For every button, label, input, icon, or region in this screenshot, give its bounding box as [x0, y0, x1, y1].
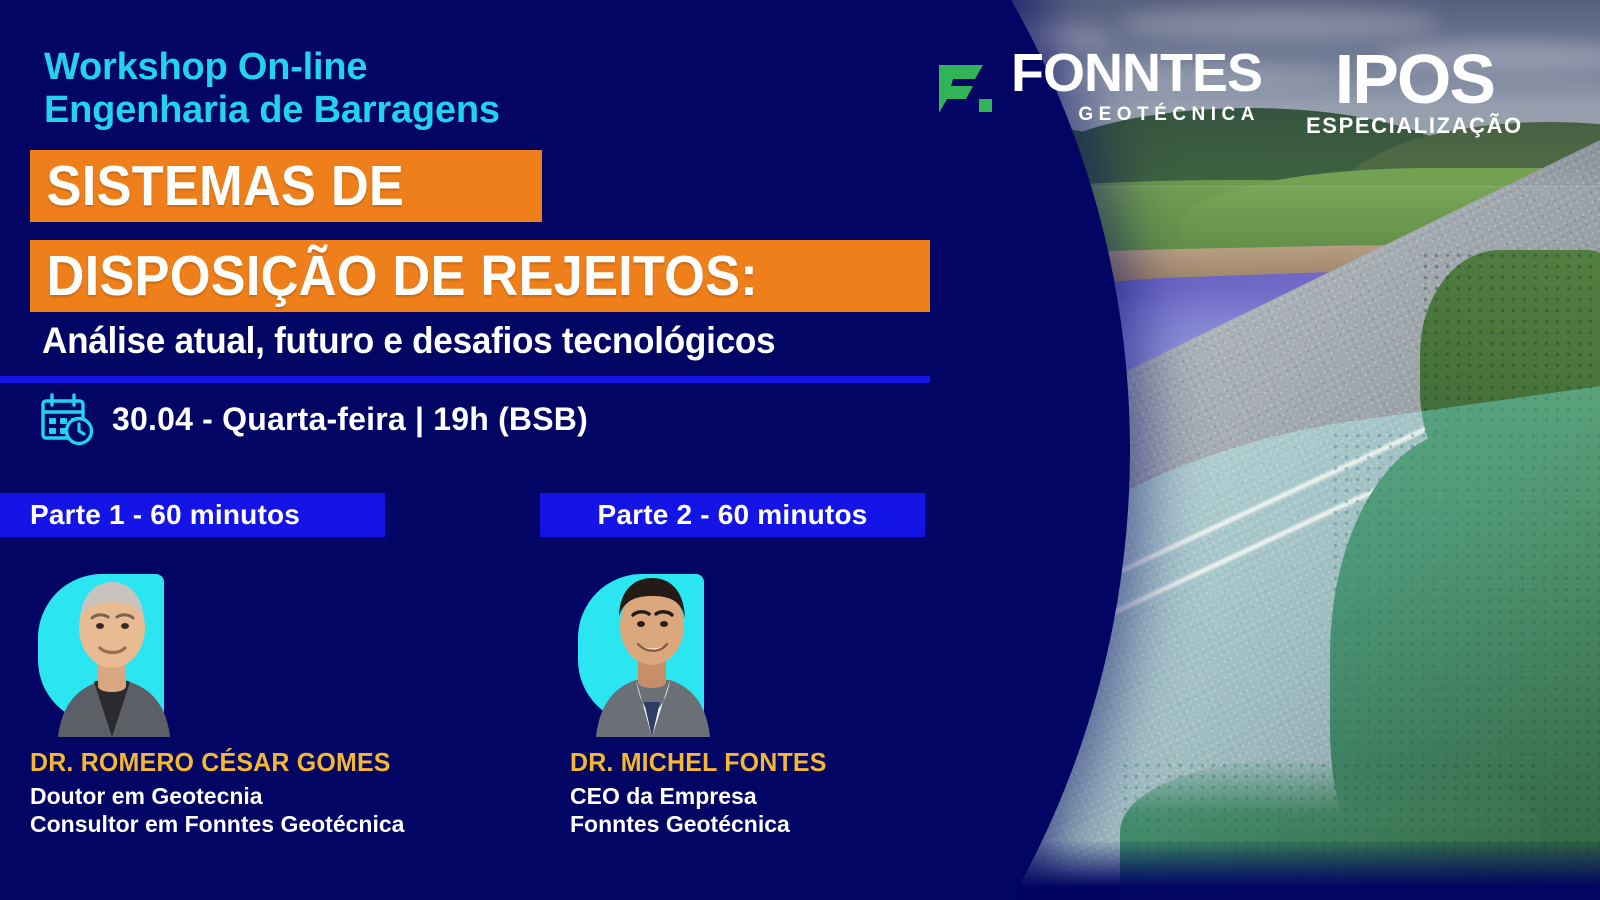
date-row: 30.04 - Quarta-feira | 19h (BSB)	[40, 392, 588, 446]
part-badge-1: Parte 1 - 60 minutos	[0, 493, 385, 537]
speaker-1-role-line-1: Doutor em Geotecnia	[30, 782, 490, 810]
logo-group: FONNTES GEOTÉCNICA IPOS ESPECIALIZAÇÃO	[935, 48, 1523, 139]
fonntes-wordmark: FONNTES GEOTÉCNICA	[1011, 48, 1262, 126]
kicker-line-1: Workshop On-line	[44, 46, 744, 89]
speaker-portrait-2	[570, 552, 720, 737]
ipos-subtitle: ESPECIALIZAÇÃO	[1306, 113, 1523, 139]
portrait-image	[46, 552, 178, 737]
ipos-name: IPOS	[1335, 48, 1494, 111]
part-badge-2: Parte 2 - 60 minutos	[540, 493, 925, 537]
divider-rule	[0, 376, 930, 383]
speaker-2-role-line-2: Fonntes Geotécnica	[570, 810, 1030, 838]
speaker-card-1: DR. ROMERO CÉSAR GOMES Doutor em Geotecn…	[30, 552, 490, 838]
speaker-1-role: Doutor em Geotecnia Consultor em Fonntes…	[30, 782, 490, 838]
part-badge-1-label: Parte 1 - 60 minutos	[30, 499, 300, 531]
speaker-1-name: DR. ROMERO CÉSAR GOMES	[30, 747, 472, 778]
speaker-2-role: CEO da Empresa Fonntes Geotécnica	[570, 782, 1030, 838]
event-datetime: 30.04 - Quarta-feira | 19h (BSB)	[112, 401, 588, 438]
calendar-clock-icon	[40, 392, 96, 446]
speaker-2-name: DR. MICHEL FONTES	[570, 747, 1012, 778]
title-band-1: SISTEMAS DE	[30, 150, 542, 222]
title-line-2: DISPOSIÇÃO DE REJEITOS:	[30, 248, 758, 305]
fonntes-logo: FONNTES GEOTÉCNICA	[935, 48, 1262, 126]
title-line-1: SISTEMAS DE	[30, 158, 404, 215]
speaker-2-role-line-1: CEO da Empresa	[570, 782, 1030, 810]
title-band-2: DISPOSIÇÃO DE REJEITOS:	[30, 240, 930, 312]
fonntes-name: FONNTES	[1011, 48, 1262, 100]
speaker-portrait-1	[30, 552, 180, 737]
kicker-line-2: Engenharia de Barragens	[44, 89, 744, 132]
ipos-logo: IPOS ESPECIALIZAÇÃO	[1306, 48, 1523, 139]
promo-banner: FONNTES GEOTÉCNICA IPOS ESPECIALIZAÇÃO W…	[0, 0, 1600, 900]
speaker-card-2: DR. MICHEL FONTES CEO da Empresa Fonntes…	[570, 552, 1030, 838]
part-badge-2-label: Parte 2 - 60 minutos	[597, 499, 867, 531]
portrait-image	[586, 552, 718, 737]
speaker-1-role-line-2: Consultor em Fonntes Geotécnica	[30, 810, 490, 838]
content-column: Workshop On-line Engenharia de Barragens…	[0, 0, 960, 900]
event-subtitle: Análise atual, futuro e desafios tecnoló…	[42, 320, 897, 363]
fonntes-subtitle: GEOTÉCNICA	[1078, 104, 1260, 126]
event-kicker: Workshop On-line Engenharia de Barragens	[44, 46, 744, 131]
